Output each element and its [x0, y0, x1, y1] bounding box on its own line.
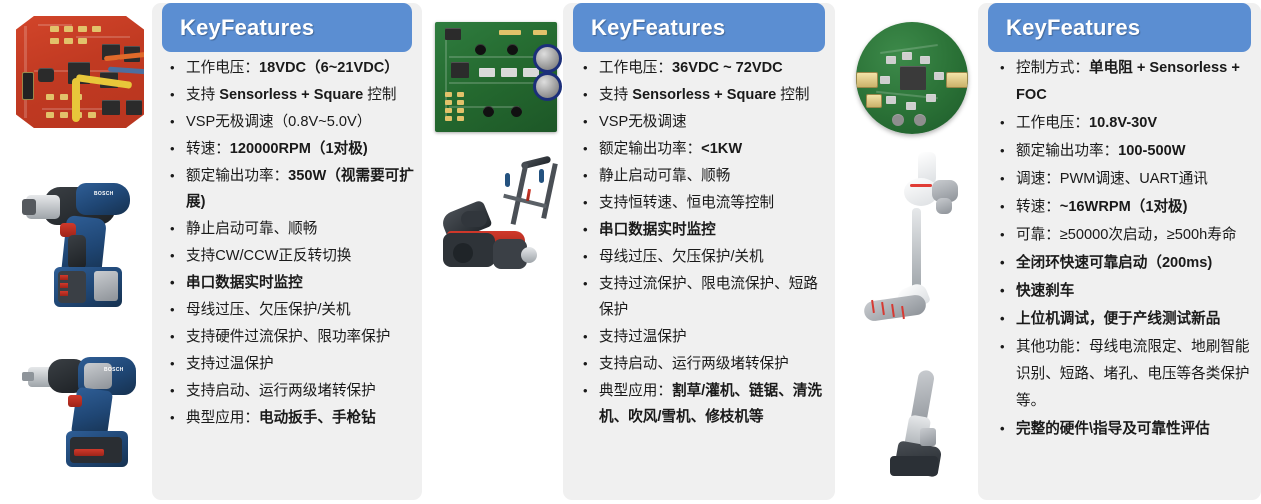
feature-text: 可靠：≥50000次启动，≥500h寿命 [1016, 227, 1236, 243]
feature-item: •串口数据实时监控 [577, 217, 827, 243]
feature-text: 支持启动、运行两级堵转保护 [599, 356, 789, 372]
feature-item: •典型应用：电动扳手、手枪钻 [164, 405, 418, 431]
bullet-icon: • [583, 378, 588, 404]
feature-text: 全闭环快速可靠启动（200ms) [1016, 255, 1212, 271]
bosch-cordless-drill-photo: BOSCH [18, 345, 144, 485]
feature-emphasis: Sensorless + Square [219, 87, 363, 103]
bullet-icon: • [583, 82, 588, 108]
feature-item: •支持恒转速、恒电流等控制 [577, 190, 827, 216]
feature-item: •VSP无极调速 [577, 109, 827, 135]
product-media-strip-1: BOSCH BOSCH [0, 0, 152, 504]
feature-text: 其他功能：母线电流限定、地刷智能识别、短路、堵孔、电压等各类保护等。 [1016, 339, 1250, 409]
bullet-icon: • [1000, 306, 1005, 332]
feature-text: 支持过温保护 [186, 356, 274, 372]
feature-text: 支持恒转速、恒电流等控制 [599, 195, 774, 211]
feature-emphasis: 36VDC ~ 72VDC [672, 60, 783, 76]
bullet-icon: • [583, 324, 588, 350]
feature-item: •串口数据实时监控 [164, 270, 418, 296]
feature-item: •典型应用：割草/灌机、链锯、清洗机、吹风/雪机、修枝机等 [577, 378, 827, 430]
key-features-panel-1: KeyFeatures •工作电压：18VDC（6~21VDC）•支持 Sens… [152, 3, 422, 500]
bullet-icon: • [1000, 416, 1005, 442]
product-media-strip-3 [840, 0, 978, 504]
feature-text: 静止启动可靠、顺畅 [599, 168, 730, 184]
vacuum-battery-handle-photo [870, 370, 956, 488]
feature-text: 典型应用：割草/灌机、链锯、清洗机、吹风/雪机、修枝机等 [599, 383, 822, 425]
feature-text: 支持硬件过流保护、限功率保护 [186, 329, 390, 345]
feature-item: •额定输出功率：350W（视需要可扩展) [164, 163, 418, 215]
feature-text: 调速：PWM调速、UART通讯 [1016, 171, 1208, 187]
feature-text: 转速：~16WRPM（1对极) [1016, 199, 1188, 215]
brand-mark: BOSCH [94, 191, 114, 197]
feature-text: 支持 Sensorless + Square 控制 [186, 87, 397, 103]
bosch-impact-wrench-photo: BOSCH [20, 175, 140, 315]
feature-text: 母线过压、欠压保护/关机 [186, 302, 351, 318]
feature-text: 支持 Sensorless + Square 控制 [599, 87, 810, 103]
feature-item: •工作电压：10.8V-30V [994, 110, 1251, 137]
bullet-icon: • [583, 271, 588, 297]
brand-mark: BOSCH [104, 367, 124, 373]
bullet-icon: • [1000, 222, 1005, 248]
feature-text: 快速刹车 [1016, 283, 1074, 299]
panel-title: KeyFeatures [591, 15, 725, 41]
bullet-icon: • [583, 136, 588, 162]
feature-text: 额定输出功率：350W（视需要可扩展) [186, 168, 414, 210]
feature-item: •其他功能：母线电流限定、地刷智能识别、短路、堵孔、电压等各类保护等。 [994, 334, 1251, 415]
bullet-icon: • [170, 378, 175, 404]
feature-emphasis: <1KW [701, 141, 742, 157]
feature-item: •支持 Sensorless + Square 控制 [577, 82, 827, 108]
feature-item: •静止启动可靠、顺畅 [577, 163, 827, 189]
feature-item: •母线过压、欠压保护/关机 [164, 297, 418, 323]
cordless-stick-vacuum-photo [858, 152, 974, 332]
feature-item: •完整的硬件\指导及可靠性评估 [994, 416, 1251, 443]
bullet-icon: • [1000, 166, 1005, 192]
feature-list-1: •工作电压：18VDC（6~21VDC）•支持 Sensorless + Squ… [164, 55, 418, 432]
product-column-2: KeyFeatures •工作电压：36VDC ~ 72VDC•支持 Senso… [425, 0, 835, 504]
feature-emphasis: ~16WRPM（1对极) [1060, 199, 1188, 215]
bullet-icon: • [583, 55, 588, 81]
panel-header-3: KeyFeatures [988, 3, 1251, 52]
electrolytic-capacitor [533, 72, 562, 101]
bullet-icon: • [170, 324, 175, 350]
bullet-icon: • [1000, 278, 1005, 304]
feature-item: •VSP无极调速（0.8V~5.0V） [164, 109, 418, 135]
bullet-icon: • [170, 55, 175, 81]
feature-item: •支持启动、运行两级堵转保护 [577, 351, 827, 377]
panel-header-2: KeyFeatures [573, 3, 825, 52]
bullet-icon: • [170, 109, 175, 135]
feature-item: •转速：~16WRPM（1对极) [994, 194, 1251, 221]
bullet-icon: • [170, 270, 175, 296]
bullet-icon: • [170, 297, 175, 323]
feature-item: •静止启动可靠、顺畅 [164, 216, 418, 242]
panel-header-1: KeyFeatures [162, 3, 412, 52]
feature-text: 工作电压：18VDC（6~21VDC） [186, 60, 399, 76]
bullet-icon: • [583, 109, 588, 135]
bullet-icon: • [1000, 55, 1005, 81]
feature-text: 典型应用：电动扳手、手枪钻 [186, 410, 376, 426]
bullet-icon: • [170, 405, 175, 431]
feature-text: 额定输出功率：<1KW [599, 141, 742, 157]
feature-item: •支持 Sensorless + Square 控制 [164, 82, 418, 108]
feature-item: •全闭环快速可靠启动（200ms) [994, 250, 1251, 277]
feature-item: •调速：PWM调速、UART通讯 [994, 166, 1251, 193]
feature-text: 工作电压：10.8V-30V [1016, 115, 1157, 131]
feature-text: VSP无极调速 [599, 114, 687, 130]
feature-item: •支持CW/CCW正反转切换 [164, 243, 418, 269]
feature-text: 控制方式：单电阻 + Sensorless + FOC [1016, 60, 1240, 103]
product-column-1: BOSCH BOSCH KeyFeatures •工作电压：18V [0, 0, 422, 504]
round-green-controller-pcb-photo [856, 22, 968, 134]
feature-text: 静止启动可靠、顺畅 [186, 221, 317, 237]
feature-item: •额定输出功率：<1KW [577, 136, 827, 162]
product-column-3: KeyFeatures •控制方式：单电阻 + Sensorless + FOC… [840, 0, 1261, 504]
feature-text: 完整的硬件\指导及可靠性评估 [1016, 421, 1210, 437]
feature-emphasis: 100-500W [1118, 143, 1185, 159]
feature-item: •额定输出功率：100-500W [994, 138, 1251, 165]
feature-item: •支持硬件过流保护、限功率保护 [164, 324, 418, 350]
feature-text: 转速：120000RPM（1对极) [186, 141, 368, 157]
bullet-icon: • [170, 82, 175, 108]
feature-emphasis: 18VDC（6~21VDC） [259, 60, 399, 76]
bullet-icon: • [583, 351, 588, 377]
feature-text: 支持启动、运行两级堵转保护 [186, 383, 376, 399]
feature-text: 额定输出功率：100-500W [1016, 143, 1186, 159]
key-features-panel-3: KeyFeatures •控制方式：单电阻 + Sensorless + FOC… [978, 3, 1261, 500]
bullet-icon: • [583, 163, 588, 189]
feature-text: 串口数据实时监控 [599, 222, 716, 238]
bullet-icon: • [170, 163, 175, 189]
bullet-icon: • [583, 217, 588, 243]
bullet-icon: • [170, 216, 175, 242]
panel-title: KeyFeatures [1006, 15, 1140, 41]
feature-item: •快速刹车 [994, 278, 1251, 305]
feature-item: •支持过流保护、限电流保护、短路保护 [577, 271, 827, 323]
feature-item: •可靠：≥50000次启动，≥500h寿命 [994, 222, 1251, 249]
feature-item: •支持启动、运行两级堵转保护 [164, 378, 418, 404]
feature-text: 上位机调试，便于产线测试新品 [1016, 311, 1220, 327]
feature-item: •上位机调试，便于产线测试新品 [994, 306, 1251, 333]
feature-item: •工作电压：18VDC（6~21VDC） [164, 55, 418, 81]
bullet-icon: • [170, 351, 175, 377]
bullet-icon: • [583, 244, 588, 270]
bullet-icon: • [170, 243, 175, 269]
feature-list-3: •控制方式：单电阻 + Sensorless + FOC•工作电压：10.8V-… [994, 55, 1251, 444]
feature-item: •控制方式：单电阻 + Sensorless + FOC [994, 55, 1251, 109]
feature-text: 支持过温保护 [599, 329, 687, 345]
panel-title: KeyFeatures [180, 15, 314, 41]
electrolytic-capacitor [533, 44, 562, 73]
feature-list-2: •工作电压：36VDC ~ 72VDC•支持 Sensorless + Squa… [577, 55, 827, 431]
feature-text: 支持过流保护、限电流保护、短路保护 [599, 276, 818, 318]
feature-emphasis: Sensorless + Square [632, 87, 776, 103]
feature-text: VSP无极调速（0.8V~5.0V） [186, 114, 371, 130]
bullet-icon: • [1000, 194, 1005, 220]
feature-item: •母线过压、欠压保护/关机 [577, 244, 827, 270]
red-controller-pcb-photo [16, 16, 144, 128]
feature-text: 工作电压：36VDC ~ 72VDC [599, 60, 783, 76]
bullet-icon: • [1000, 138, 1005, 164]
feature-text: 支持CW/CCW正反转切换 [186, 248, 351, 264]
bullet-icon: • [1000, 110, 1005, 136]
feature-text: 母线过压、欠压保护/关机 [599, 249, 764, 265]
product-media-strip-2 [425, 0, 563, 504]
feature-text: 串口数据实时监控 [186, 275, 303, 291]
electric-snow-thrower-photo [435, 155, 561, 280]
feature-emphasis: 10.8V-30V [1089, 115, 1157, 131]
feature-emphasis: 电动扳手、手枪钻 [259, 410, 376, 426]
key-features-board: BOSCH BOSCH KeyFeatures •工作电压：18V [0, 0, 1261, 504]
bullet-icon: • [583, 190, 588, 216]
bullet-icon: • [170, 136, 175, 162]
feature-item: •支持过温保护 [577, 324, 827, 350]
feature-item: •支持过温保护 [164, 351, 418, 377]
bullet-icon: • [1000, 334, 1005, 360]
key-features-panel-2: KeyFeatures •工作电压：36VDC ~ 72VDC•支持 Senso… [563, 3, 835, 500]
feature-item: •工作电压：36VDC ~ 72VDC [577, 55, 827, 81]
bullet-icon: • [1000, 250, 1005, 276]
feature-emphasis: 120000RPM（1对极) [230, 141, 368, 157]
feature-item: •转速：120000RPM（1对极) [164, 136, 418, 162]
